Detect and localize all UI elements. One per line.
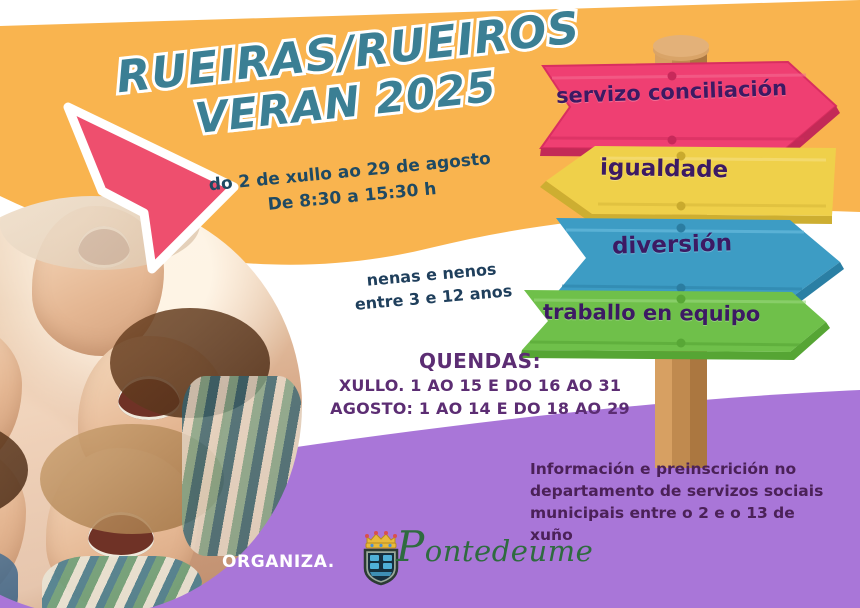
quendas-line-2: AGOSTO: 1 AO 14 E DO 18 AO 29 — [330, 397, 630, 420]
info-text: Información e preinscrición no departame… — [530, 458, 830, 546]
poster-canvas: RUEIRAS/RUEIROS VERAN 2025 do 2 de xullo… — [0, 0, 860, 608]
pontedeume-wordmark: Pontedeume — [396, 534, 593, 568]
quendas-title: QUENDAS: — [330, 348, 630, 374]
sign-label-traballo-en-equipo: traballo en equipo — [543, 300, 761, 326]
sign-label-igualdade: igualdade — [600, 155, 729, 184]
quendas-block: QUENDAS: XULLO. 1 AO 15 E DO 16 AO 31 AG… — [330, 348, 630, 420]
quendas-line-1: XULLO. 1 AO 15 E DO 16 AO 31 — [330, 374, 630, 397]
sign-label-diversion: diversión — [612, 230, 733, 259]
brand-capital: P — [396, 522, 425, 571]
brand-rest: ontedeume — [425, 534, 594, 568]
organiza-label: ORGANIZA. — [222, 552, 335, 572]
